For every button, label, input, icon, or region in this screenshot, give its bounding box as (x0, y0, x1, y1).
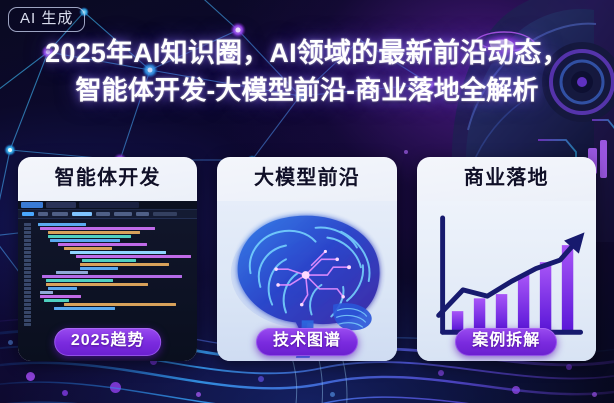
feature-card-agent-dev[interactable]: 智能体开发 (18, 157, 197, 361)
ai-generated-badge: AI 生成 (8, 7, 85, 32)
feature-card-business[interactable]: 商业落地 (417, 157, 596, 361)
chart-bar (540, 262, 551, 330)
card-title: 大模型前沿 (254, 167, 360, 189)
headline-line-1: 2025年AI知识圈，AI领域的最新前沿动态， (14, 34, 600, 72)
card-title: 商业落地 (464, 167, 549, 189)
card-title: 智能体开发 (55, 167, 161, 189)
ai-course-poster: AI 生成 2025年AI知识圈，AI领域的最新前沿动态， 智能体开发-大模型前… (0, 0, 614, 403)
chart-bar (452, 311, 463, 330)
headline-line-2: 智能体开发-大模型前沿-商业落地全解析 (14, 72, 600, 109)
card-pill-badge[interactable]: 案例拆解 (455, 328, 557, 356)
chart-bar (495, 294, 506, 330)
page-title: 2025年AI知识圈，AI领域的最新前沿动态， 智能体开发-大模型前沿-商业落地… (0, 34, 614, 109)
chart-bar (474, 298, 485, 330)
chart-bar (518, 275, 529, 330)
feature-card-list: 智能体开发 (0, 157, 614, 363)
card-pill-badge[interactable]: 技术图谱 (256, 328, 358, 356)
card-pill-badge[interactable]: 2025趋势 (54, 328, 162, 356)
feature-card-llm-frontier[interactable]: 大模型前沿 (217, 157, 396, 361)
